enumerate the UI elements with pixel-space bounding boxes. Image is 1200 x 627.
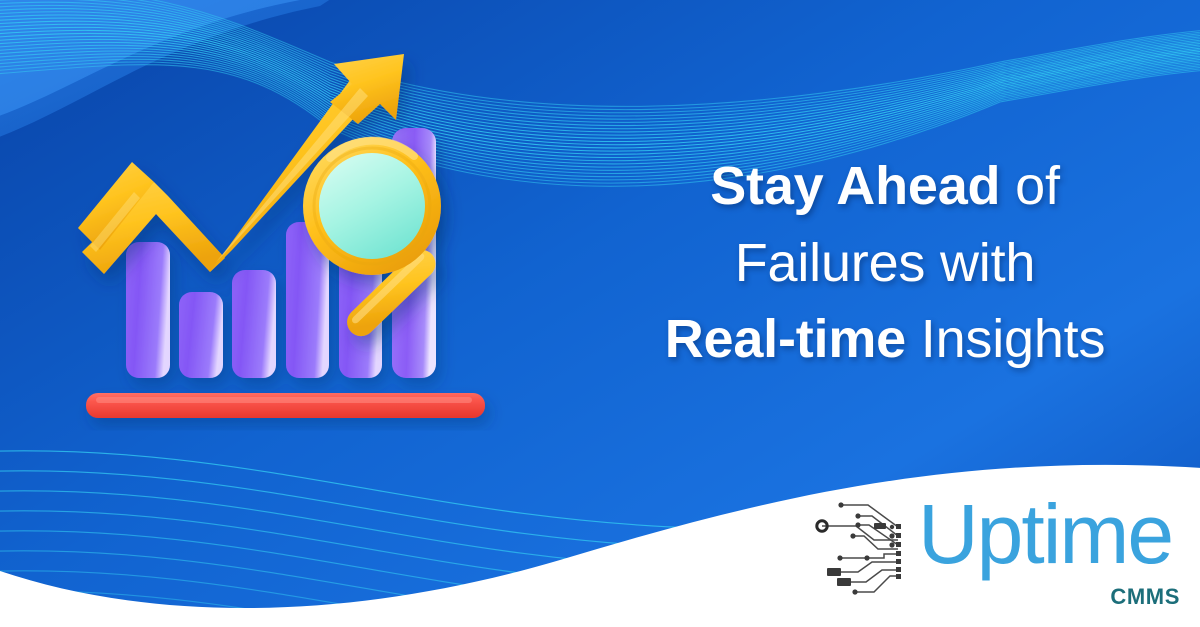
headline-line-1-strong: Stay Ahead xyxy=(710,156,1000,216)
headline-line-2-light: Failures with xyxy=(735,233,1036,293)
circuit-traces-icon xyxy=(812,496,934,600)
headline-line-3: Real-time Insights xyxy=(600,301,1170,378)
magnifier-lens xyxy=(319,153,425,259)
base-bar xyxy=(86,393,485,418)
headline-line-2: Failures with xyxy=(600,225,1170,302)
uptime-cmms-logo[interactable]: Uptime CMMS xyxy=(812,492,1182,620)
headline-line-3-light: Insights xyxy=(906,309,1105,369)
headline-line-1: Stay Ahead of xyxy=(600,148,1170,225)
headline-line-3-strong: Real-time xyxy=(665,309,906,369)
growth-chart-magnifier-illustration xyxy=(0,0,560,460)
marketing-banner: Stay Ahead of Failures with Real-time In… xyxy=(0,0,1200,627)
headline-line-1-light: of xyxy=(1000,156,1059,216)
headline: Stay Ahead of Failures with Real-time In… xyxy=(600,148,1170,378)
logo-wordmark: Uptime xyxy=(918,492,1172,576)
logo-subtitle: CMMS xyxy=(1110,584,1180,610)
chart-bar xyxy=(126,242,170,378)
chart-bar xyxy=(179,292,223,378)
chart-bar xyxy=(232,270,276,378)
